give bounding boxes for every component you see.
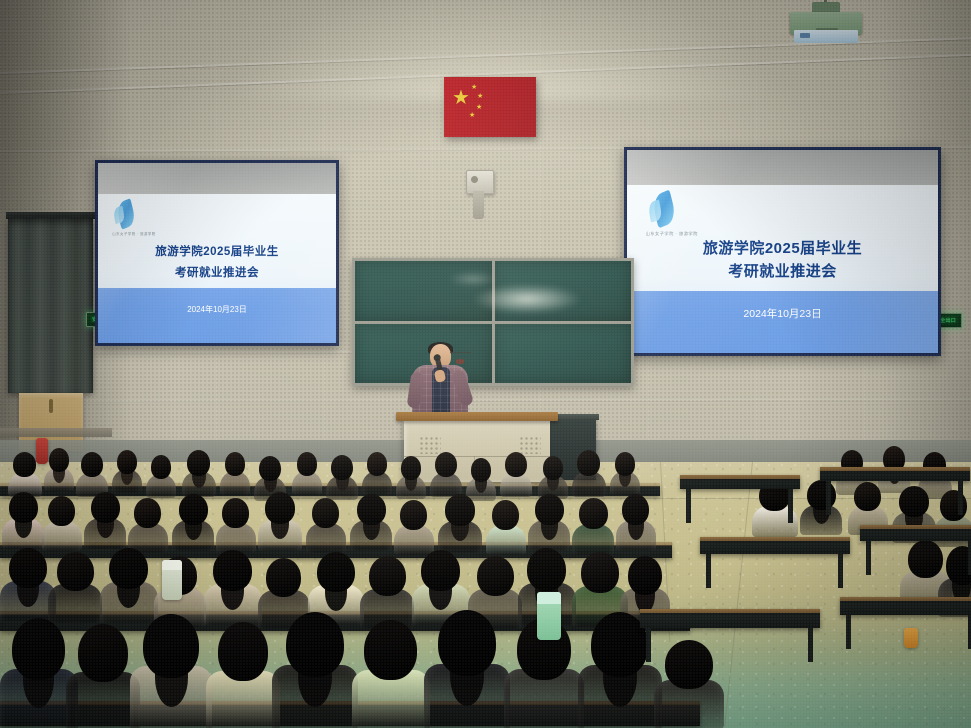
audience-head (187, 450, 210, 476)
chalkboard-panel (495, 261, 632, 321)
audience-head (401, 456, 421, 480)
audience-member (486, 500, 526, 554)
window-curtain[interactable] (8, 218, 93, 393)
logo-caption: 山东女子学院 · 旅游学院 (112, 231, 169, 236)
chalkboard-panels (355, 261, 631, 383)
audience-head (505, 452, 527, 477)
flag-star-small: ★ (477, 93, 483, 100)
audience-head (854, 482, 881, 511)
audience-head (535, 494, 564, 525)
audience-member (112, 450, 142, 492)
audience-head (134, 498, 161, 528)
audience-head (151, 455, 171, 479)
flag-star-large: ★ (452, 88, 470, 108)
college-logo-icon: 山东女子学院 · 旅游学院 (112, 201, 169, 240)
audience-head (577, 450, 600, 476)
audience-member (800, 480, 842, 534)
audience-member (48, 552, 102, 622)
audience-head (445, 494, 475, 526)
lecture-hall-photo: ★ ★ ★ ★ ★ 安全出口 安全出口 山东女子学院 · 旅游学院 旅游学院20… (0, 0, 971, 728)
audience-head (581, 552, 619, 593)
audience-member (438, 494, 482, 552)
audience-head (421, 550, 460, 591)
projector-lens-icon (794, 30, 858, 43)
bench-leg (866, 541, 871, 575)
audience-head (899, 486, 929, 517)
chalkboard-panel (495, 324, 632, 384)
glasses-icon (450, 352, 471, 357)
bench-leg (958, 481, 963, 515)
audience-member (66, 624, 140, 728)
audience-member (272, 612, 358, 728)
audience-member (172, 494, 214, 550)
screen-top-margin (98, 163, 336, 194)
presenter-mouth (456, 359, 464, 364)
audience-head (9, 492, 38, 523)
audience-member (362, 452, 392, 494)
audience-member (572, 450, 606, 496)
audience-member (350, 494, 392, 550)
red-bottle (36, 438, 48, 464)
bench-desktop (700, 537, 850, 541)
audience-member (76, 452, 108, 496)
bench-leg (646, 628, 651, 662)
chinese-national-flag-icon: ★ ★ ★ ★ ★ (444, 77, 536, 137)
audience-head (218, 622, 268, 681)
audience-head (527, 548, 566, 591)
flag-star-small: ★ (469, 112, 475, 119)
presenter (410, 344, 470, 416)
bench-leg (808, 628, 813, 662)
slide-footer-band (98, 288, 336, 343)
audience-member (572, 498, 614, 554)
wall-mounted-camera-icon (466, 170, 492, 220)
audience-member (500, 452, 532, 496)
audience-member (130, 614, 212, 728)
audience-head (91, 492, 120, 523)
slide-title-line-2: 考研就业推进会 (627, 260, 938, 281)
audience-head (807, 480, 836, 510)
audience-member (100, 548, 158, 622)
audience-member (146, 455, 176, 497)
screen-surface: 山东女子学院 · 旅游学院 旅游学院2025届毕业生 考研就业推进会 2024年… (627, 150, 938, 353)
orange-cup (904, 628, 918, 648)
bench-desktop (680, 475, 800, 479)
audience-member (44, 448, 74, 490)
slide-title-line-1: 旅游学院2025届毕业生 (98, 243, 336, 259)
audience-member (2, 492, 44, 548)
audience-member (326, 455, 358, 499)
audience-head (143, 614, 199, 678)
bench-desktop (860, 525, 971, 529)
audience-member (528, 494, 570, 550)
audience-member (220, 452, 250, 494)
audience-head (331, 455, 353, 480)
bench-desktop (640, 609, 820, 613)
audience-head (364, 620, 417, 680)
audience-head (48, 496, 75, 526)
bench-leg (686, 489, 691, 523)
audience-head (357, 494, 386, 525)
bench-leg (826, 481, 831, 515)
green-chalkboard (352, 258, 634, 386)
audience-member (394, 500, 434, 554)
left-projection-screen[interactable]: 山东女子学院 · 旅游学院 旅游学院2025届毕业生 考研就业推进会 2024年… (95, 160, 339, 346)
audience-head (492, 500, 519, 530)
audience-head (297, 452, 317, 476)
tumbler-lid (162, 560, 182, 570)
slide-date: 2024年10月23日 (627, 306, 938, 321)
bench-right-section (700, 540, 850, 554)
audience-head (367, 452, 387, 476)
audience-member (84, 492, 126, 548)
audience-head (12, 618, 65, 680)
audience-head (179, 494, 208, 525)
audience-head (81, 452, 103, 477)
audience-head (117, 450, 137, 474)
slide-content-left: 山东女子学院 · 旅游学院 旅游学院2025届毕业生 考研就业推进会 2024年… (98, 194, 336, 343)
audience-head (225, 452, 245, 476)
audience-head (400, 500, 427, 530)
audience-head (665, 640, 713, 689)
audience-head (477, 556, 514, 596)
audience-head (265, 492, 295, 524)
flag-star-small: ★ (476, 104, 482, 111)
audience-member (292, 452, 322, 494)
audience-head (49, 448, 69, 472)
bench-desktop (840, 597, 971, 601)
slide-date: 2024年10月23日 (98, 304, 336, 315)
audience-member (430, 452, 462, 496)
bench-leg (846, 615, 851, 649)
slide-content-right: 山东女子学院 · 旅游学院 旅游学院2025届毕业生 考研就业推进会 2024年… (627, 185, 938, 353)
bench-right-section (840, 600, 971, 615)
slide-title-line-2: 考研就业推进会 (98, 264, 336, 280)
audience-head (259, 456, 281, 481)
bench-right-section (820, 470, 970, 481)
audience-member (128, 498, 168, 552)
right-projection-screen[interactable]: 山东女子学院 · 旅游学院 旅游学院2025届毕业生 考研就业推进会 2024年… (624, 147, 941, 356)
bench-right-section (640, 612, 820, 628)
college-logo-icon: 山东女子学院 · 旅游学院 (646, 193, 714, 237)
audience-member (42, 496, 82, 550)
audience-head (78, 624, 128, 682)
audience-member (360, 556, 414, 628)
green-tumbler (537, 592, 561, 640)
bench-right-section (680, 478, 800, 489)
bench-right-section (860, 528, 971, 541)
slide-footer-band (627, 291, 938, 353)
audience-head (57, 552, 94, 591)
audience-head (369, 556, 406, 596)
audience-head (579, 498, 608, 529)
audience-head (438, 610, 496, 676)
audience-member (396, 456, 426, 498)
slide-title-line-1: 旅游学院2025届毕业生 (627, 237, 938, 258)
audience-head (628, 556, 662, 595)
audience-head (622, 494, 649, 525)
audience-head (13, 452, 36, 477)
audience-head (266, 558, 301, 597)
audience-member (610, 452, 640, 494)
bench-leg (838, 554, 843, 588)
audience-head (317, 552, 355, 592)
audience-member (306, 498, 346, 552)
audience-head (435, 452, 457, 477)
audience-head (286, 612, 344, 677)
bench-leg (788, 489, 793, 523)
camera-stem (473, 191, 484, 219)
audience-head (213, 550, 252, 591)
audience-head (222, 498, 249, 528)
audience-member (654, 640, 724, 728)
audience-member (538, 456, 568, 498)
flag-star-small: ★ (471, 84, 477, 91)
audience-member (424, 610, 510, 728)
audience-head (312, 498, 339, 528)
audience-member (616, 494, 656, 550)
audience-member (258, 492, 302, 550)
chalkboard-panel (355, 261, 492, 321)
audience-member (182, 450, 216, 496)
bench-desktop (820, 467, 970, 471)
ceiling-projector-icon (790, 2, 862, 44)
audience-head (471, 458, 491, 482)
audience-member (352, 620, 430, 728)
wall-ledge (0, 428, 112, 437)
screen-surface: 山东女子学院 · 旅游学院 旅游学院2025届毕业生 考研就业推进会 2024年… (98, 163, 336, 343)
audience-head (543, 456, 563, 480)
white-tumbler (162, 560, 182, 600)
audience-member (204, 550, 262, 624)
audience-member (216, 498, 256, 552)
screen-top-margin (627, 150, 938, 185)
lectern-top (396, 412, 558, 421)
tumbler-lid (537, 592, 561, 604)
audience-head (9, 548, 47, 588)
bench-leg (706, 554, 711, 588)
audience-member (206, 622, 280, 728)
audience-head (109, 548, 148, 589)
audience-head (615, 452, 635, 476)
